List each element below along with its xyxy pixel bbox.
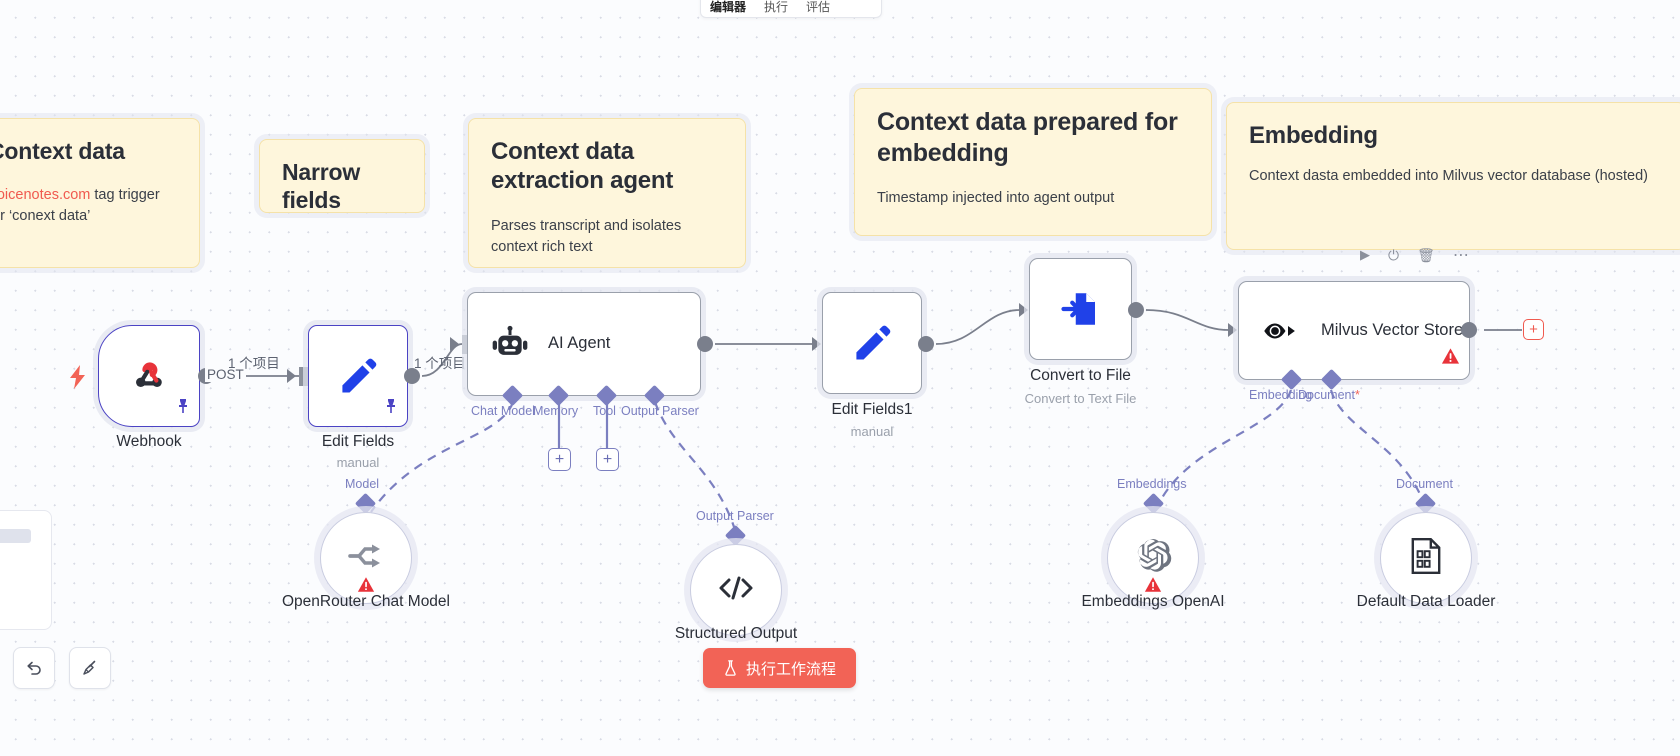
required-asterisk: * <box>1355 388 1360 402</box>
sticky-note-context-data[interactable]: Context data Voicenotes.com tag trigger … <box>0 118 200 268</box>
openai-icon <box>1133 536 1173 581</box>
robot-icon <box>490 324 530 364</box>
delete-node-icon[interactable]: 🗑 <box>1417 247 1435 264</box>
sticky-body: Voicenotes.com tag trigger for ‘conext d… <box>0 185 177 227</box>
port-label-tool: Tool <box>593 404 616 418</box>
sticky-body: Timestamp injected into agent output <box>877 188 1189 209</box>
undo-button[interactable] <box>13 647 55 689</box>
node-convert-to-file[interactable] <box>1029 258 1132 360</box>
binary-doc-icon <box>1410 538 1442 579</box>
sub-port-label-document: Document <box>1396 477 1453 491</box>
node-title-milvus: Milvus Vector Store <box>1321 321 1463 341</box>
subnode-label-structured-output: Structured Output <box>646 624 826 643</box>
node-webhook[interactable] <box>98 325 200 427</box>
node-sublabel-edit-fields1: manual <box>812 424 932 439</box>
subnode-label-embeddings-openai: Embeddings OpenAI <box>1053 592 1253 611</box>
sticky-note-extraction-agent[interactable]: Context data extraction agent Parses tra… <box>468 118 746 268</box>
input-arrow-ai-agent <box>450 337 459 351</box>
pin-icon <box>176 398 190 419</box>
node-label-webhook: Webhook <box>98 432 200 451</box>
editor-tab-strip[interactable]: 编辑器 执行 评估 <box>700 0 882 18</box>
node-milvus-vector-store[interactable]: Milvus Vector Store <box>1238 281 1470 380</box>
output-dot-edit-fields1[interactable] <box>918 336 934 352</box>
node-edit-fields[interactable] <box>308 325 408 427</box>
add-memory-button[interactable]: + <box>548 448 571 471</box>
sticky-body: Context dasta embedded into Milvus vecto… <box>1249 166 1663 187</box>
workflow-canvas[interactable]: 编辑器 执行 评估 Context data Voicenotes.com ta… <box>0 0 1680 756</box>
convert-file-icon <box>1060 288 1102 330</box>
port-label-memory: Memory <box>533 404 578 418</box>
webhook-icon <box>128 355 170 397</box>
sticky-note-prepared-for-embedding[interactable]: Context data prepared for embedding Time… <box>854 88 1212 236</box>
broom-icon <box>80 658 100 678</box>
sticky-note-embedding[interactable]: Embedding Context dasta embedded into Mi… <box>1226 102 1680 250</box>
add-tool-button[interactable]: + <box>596 448 619 471</box>
node-title-ai-agent: AI Agent <box>548 334 610 354</box>
pencil-icon <box>336 354 380 398</box>
input-arrow-edit-fields <box>287 369 296 383</box>
input-arrow-edit-fields1 <box>812 337 821 351</box>
eye-icon <box>1263 316 1303 346</box>
tab-editor[interactable]: 编辑器 <box>701 0 755 17</box>
sticky-title: Context data <box>0 137 177 165</box>
node-label-edit-fields: Edit Fields <box>308 432 408 451</box>
subnode-label-default-data-loader: Default Data Loader <box>1326 592 1526 611</box>
execute-workflow-button[interactable]: 执行工作流程 <box>703 648 856 688</box>
trigger-bolt-icon <box>68 365 88 389</box>
input-arrow-convert-to-file <box>1019 303 1028 317</box>
undo-icon <box>24 658 44 678</box>
sub-port-default-data-loader[interactable] <box>1415 493 1436 514</box>
subnode-openrouter-chat-model[interactable] <box>320 512 412 604</box>
node-sublabel-edit-fields: manual <box>308 455 408 470</box>
port-label-chat-model: Chat Model <box>471 404 535 418</box>
subnode-default-data-loader[interactable] <box>1380 512 1472 604</box>
sticky-title: Narrow fields <box>282 158 402 213</box>
execute-node-icon[interactable]: ▶ <box>1360 247 1370 263</box>
openrouter-icon <box>346 539 386 578</box>
port-label-document: Document* <box>1298 388 1360 402</box>
subnode-embeddings-openai[interactable] <box>1107 512 1199 604</box>
more-options-icon[interactable]: ⋯ <box>1453 245 1469 265</box>
panel-placeholder-line <box>0 529 31 543</box>
add-node-button[interactable]: + <box>1523 319 1544 340</box>
node-edit-fields1[interactable] <box>822 292 922 394</box>
pencil-icon <box>850 321 894 365</box>
node-hover-toolbar[interactable]: ▶ ⏻ 🗑 ⋯ <box>1360 245 1469 265</box>
sticky-title: Embedding <box>1249 121 1663 150</box>
sub-port-openrouter[interactable] <box>355 493 376 514</box>
input-stub-edit-fields[interactable] <box>299 367 308 386</box>
node-label-convert-to-file: Convert to File <box>1009 366 1152 385</box>
code-brackets-icon <box>717 572 755 609</box>
edge-item-count-1: 1 个项目 <box>228 352 280 372</box>
floating-panel-partial[interactable] <box>0 510 52 630</box>
tidy-up-button[interactable] <box>69 647 111 689</box>
sub-port-label-model: Model <box>345 477 379 491</box>
sub-port-label-embeddings: Embeddings <box>1117 477 1187 491</box>
warning-icon[interactable] <box>1441 347 1460 370</box>
node-ai-agent[interactable]: AI Agent <box>467 292 701 396</box>
flask-icon <box>723 660 738 676</box>
node-sublabel-convert-to-file: Convert to Text File <box>1009 391 1152 406</box>
sub-port-structured-output[interactable] <box>725 525 746 546</box>
sticky-link-voicenotes[interactable]: Voicenotes.com <box>0 187 90 203</box>
sticky-title: Context data prepared for embedding <box>877 107 1189 168</box>
output-dot-ai-agent[interactable] <box>697 336 713 352</box>
port-label-output-parser: Output Parser <box>621 404 699 418</box>
subnode-label-openrouter: OpenRouter Chat Model <box>266 592 466 611</box>
subnode-structured-output[interactable] <box>690 544 782 636</box>
power-toggle-icon[interactable]: ⏻ <box>1388 247 1399 264</box>
tab-evaluations[interactable]: 评估 <box>797 0 839 17</box>
sub-port-embeddings-openai[interactable] <box>1143 493 1164 514</box>
sticky-body: Parses transcript and isolates context r… <box>491 216 723 258</box>
input-arrow-milvus <box>1228 323 1237 337</box>
output-dot-convert-to-file[interactable] <box>1128 302 1144 318</box>
sticky-note-narrow-fields[interactable]: Narrow fields <box>259 139 425 213</box>
tab-executions[interactable]: 执行 <box>755 0 797 17</box>
output-dot-milvus[interactable] <box>1461 322 1477 338</box>
sub-port-label-output-parser: Output Parser <box>696 509 774 523</box>
pin-icon <box>384 398 398 419</box>
edge-item-count-2: 1 个项目 <box>414 352 466 372</box>
node-label-edit-fields1: Edit Fields1 <box>812 400 932 419</box>
execute-workflow-label: 执行工作流程 <box>746 658 836 679</box>
sticky-title: Context data extraction agent <box>491 137 723 196</box>
